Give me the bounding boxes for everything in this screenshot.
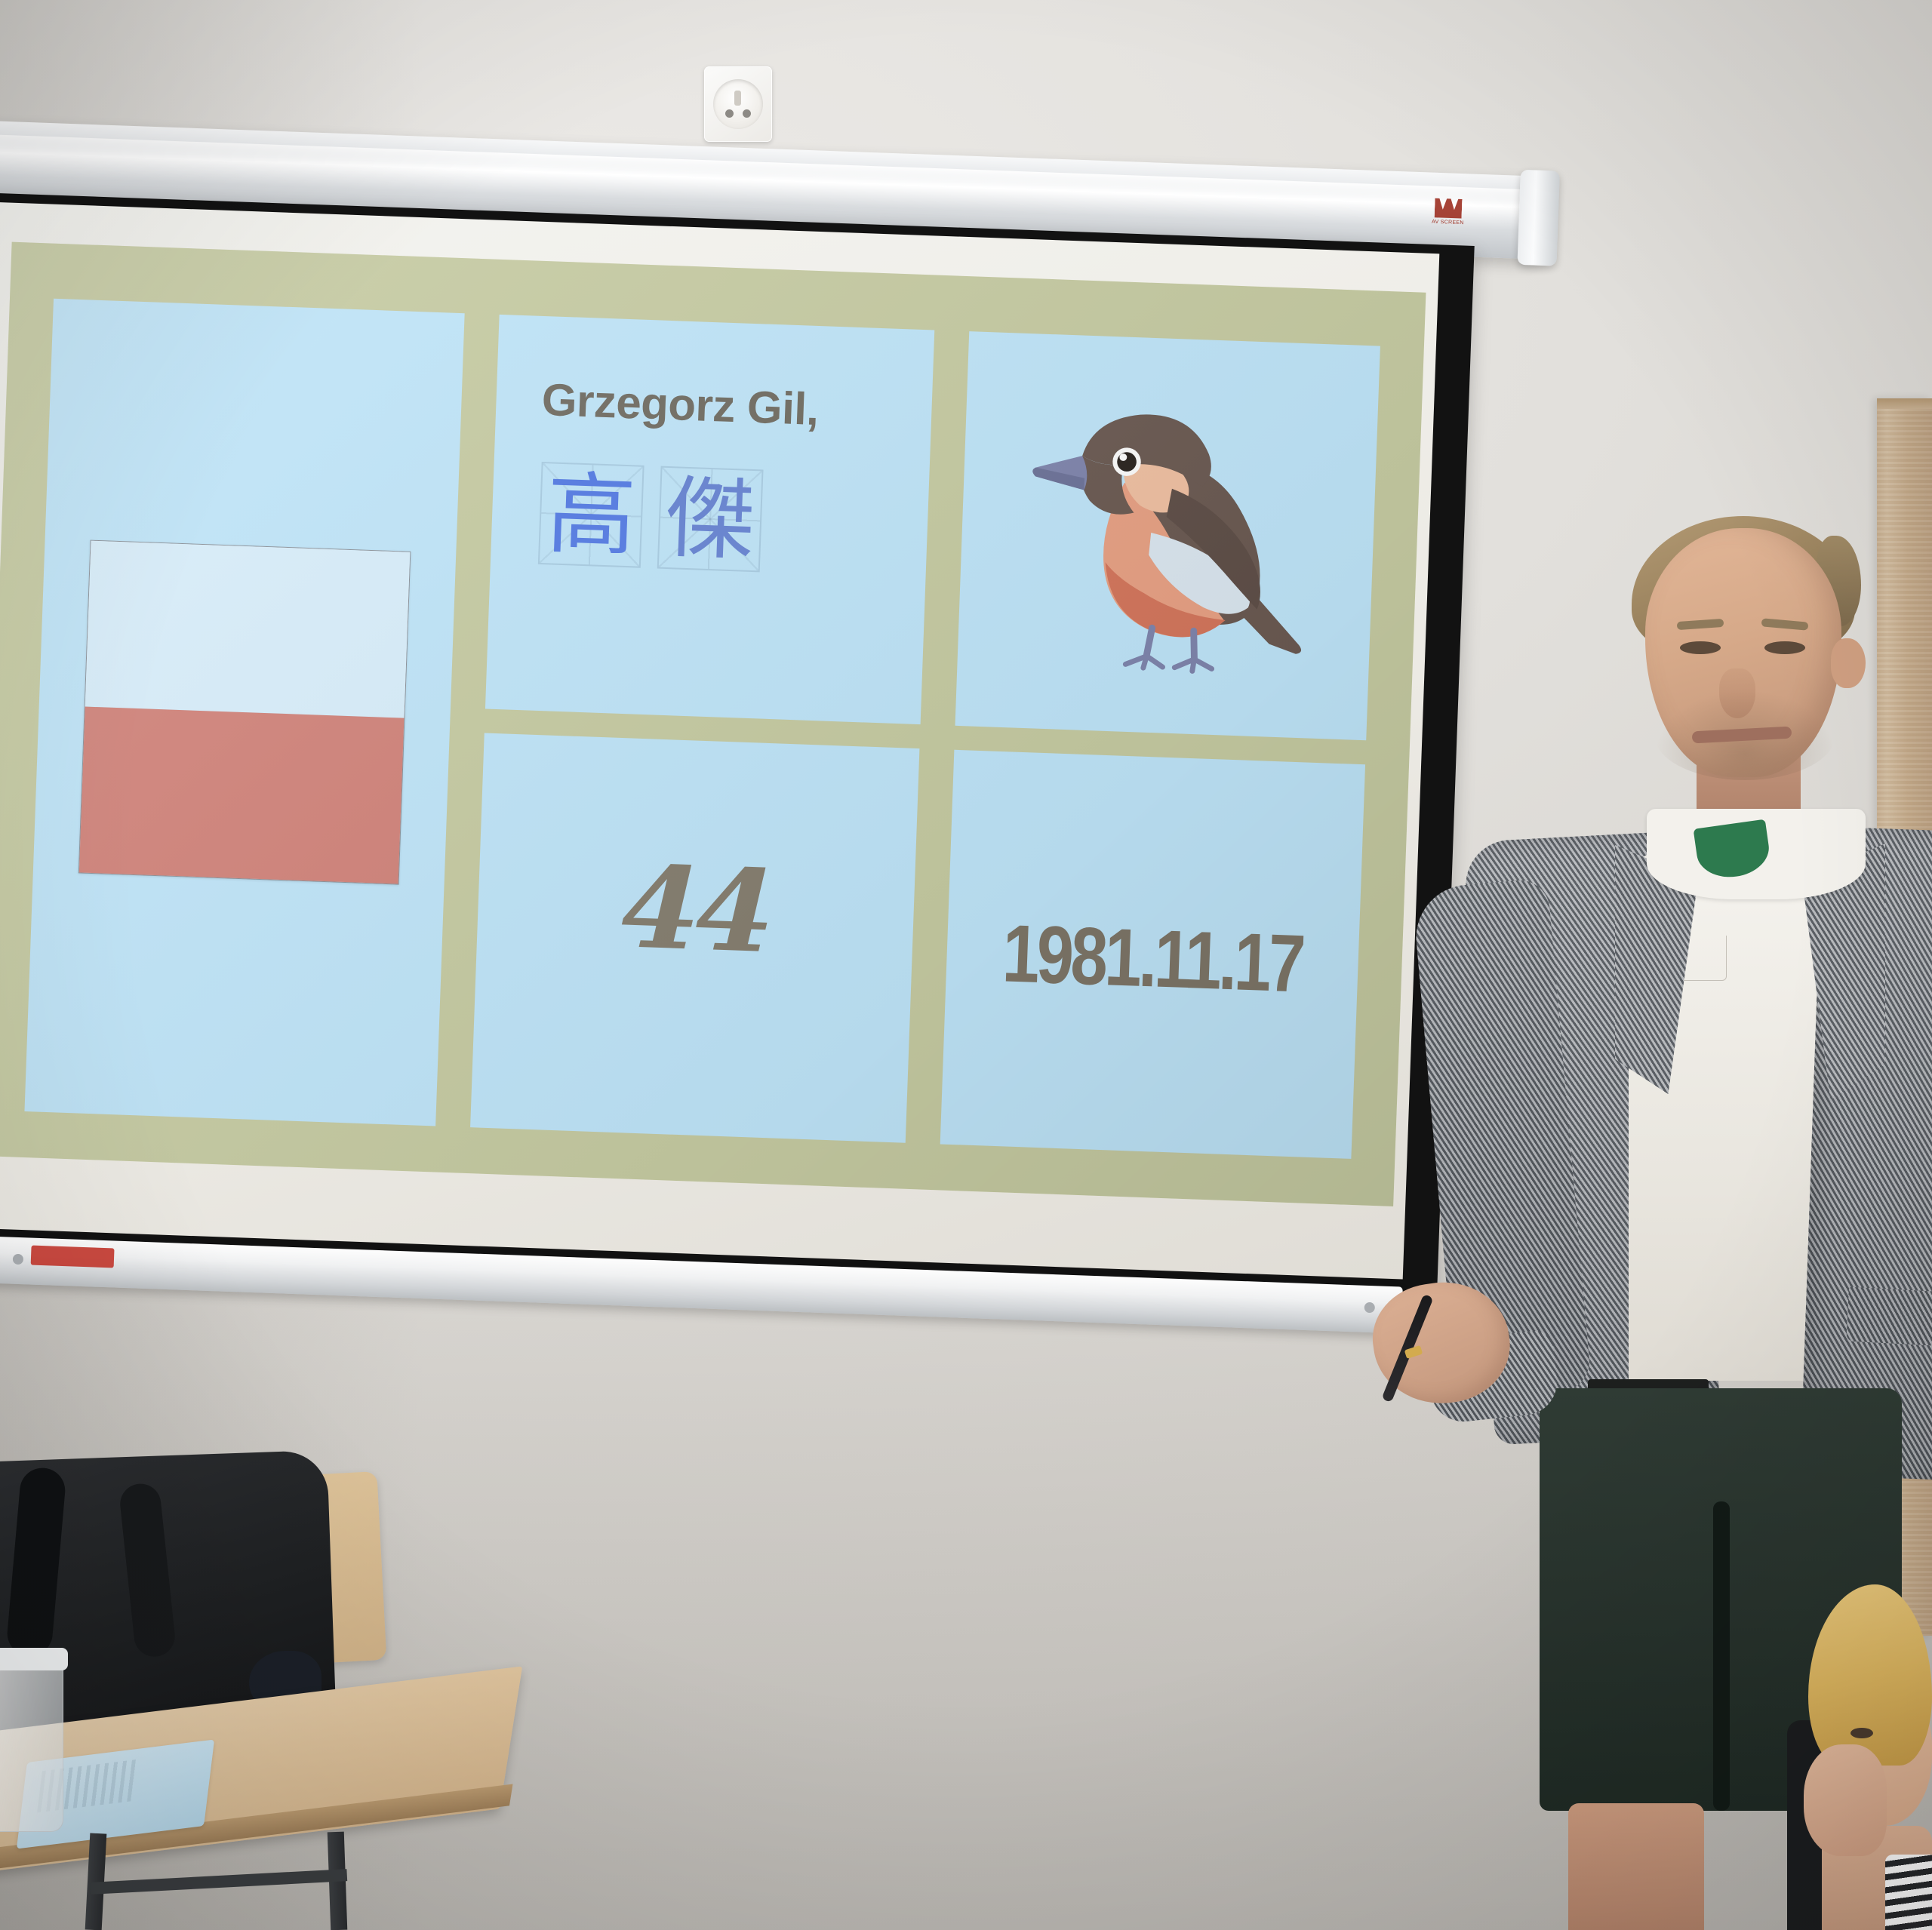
hanzi-char-gao: 高 bbox=[545, 469, 637, 561]
child-hair bbox=[1808, 1584, 1932, 1766]
backpack-strap-left bbox=[5, 1466, 67, 1658]
child-striped-shirt bbox=[1885, 1855, 1932, 1930]
presenter-eye-right bbox=[1764, 641, 1805, 654]
screen-surface: Grzegorz Gil, 高 傑 bbox=[0, 201, 1439, 1279]
shorts-inseam bbox=[1713, 1501, 1730, 1811]
weight-bar-screw-left bbox=[13, 1254, 23, 1265]
presenter-leg bbox=[1568, 1803, 1704, 1930]
age-number-text: 44 bbox=[475, 835, 916, 984]
hanzi-box-second: 傑 bbox=[657, 466, 764, 573]
hanzi-box-first: 高 bbox=[538, 462, 645, 568]
socket-earth-pin bbox=[734, 91, 741, 106]
hanzi-char-jie: 傑 bbox=[664, 473, 756, 565]
birth-date-text: 1981.11.17 bbox=[983, 905, 1323, 1011]
av-brand-text: AV SCREEN bbox=[1432, 219, 1464, 226]
av-mark-icon bbox=[1435, 198, 1463, 218]
presenter-name-text: Grzegorz Gil, bbox=[541, 373, 820, 435]
projection-screen[interactable]: Grzegorz Gil, 高 傑 bbox=[0, 192, 1475, 1317]
housing-end-cap bbox=[1517, 170, 1559, 266]
presenter-eye-left bbox=[1680, 641, 1721, 654]
av-brand-logo-icon: AV SCREEN bbox=[1431, 194, 1466, 230]
classroom-scene: AV SCREEN Grzegorz Gil, 高 傑 bbox=[0, 0, 1932, 1930]
wall-socket[interactable] bbox=[704, 66, 772, 142]
desk-area bbox=[0, 1456, 528, 1930]
presenter-ear bbox=[1831, 638, 1866, 688]
flag-stripe-white bbox=[85, 541, 411, 718]
presenter-nose bbox=[1719, 668, 1755, 718]
slide-panel-name: Grzegorz Gil, 高 傑 bbox=[485, 315, 935, 725]
slide-panel-flag bbox=[25, 298, 465, 1126]
bullfinch-illustration bbox=[955, 331, 1380, 741]
foreground-child bbox=[1787, 1584, 1932, 1930]
flag-stripe-red bbox=[79, 707, 405, 884]
socket-face bbox=[713, 79, 763, 129]
slide-panel-grid: Grzegorz Gil, 高 傑 bbox=[25, 298, 1380, 1159]
bullfinch-icon bbox=[1006, 380, 1329, 692]
socket-hole-left bbox=[725, 109, 734, 118]
slide-panel-bird bbox=[955, 331, 1380, 741]
slide-panel-number: 44 bbox=[470, 733, 920, 1143]
hanzi-practice-row: 高 傑 bbox=[538, 462, 764, 572]
slide-panel-date: 1981.11.17 bbox=[940, 749, 1365, 1159]
child-hand bbox=[1804, 1744, 1887, 1856]
backpack-strap-right bbox=[118, 1482, 177, 1658]
socket-hole-right bbox=[743, 109, 751, 118]
jacket-pocket-flap bbox=[1846, 1287, 1932, 1348]
poland-flag-icon bbox=[78, 540, 411, 885]
child-eye bbox=[1850, 1728, 1873, 1738]
water-pitcher bbox=[0, 1658, 63, 1832]
screen-pull-tab[interactable] bbox=[31, 1246, 115, 1268]
desk-cross-rail bbox=[91, 1869, 347, 1895]
projected-slide: Grzegorz Gil, 高 傑 bbox=[0, 242, 1426, 1206]
pitcher-lid bbox=[0, 1648, 68, 1670]
weight-bar-screw-right bbox=[1364, 1302, 1375, 1313]
